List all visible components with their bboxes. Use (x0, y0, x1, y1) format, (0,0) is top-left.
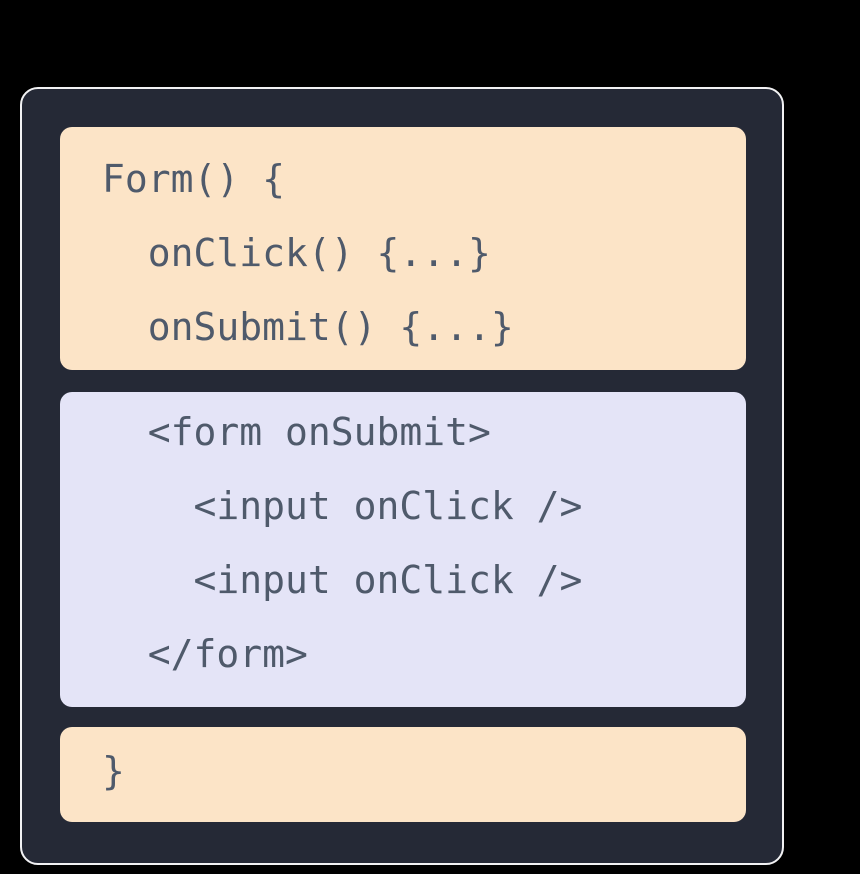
code-line: Form() { (60, 157, 746, 201)
code-line: <input onClick /> (60, 558, 746, 602)
code-line: <form onSubmit> (60, 410, 746, 454)
code-panel-component-head: Form() { onClick() {...} onSubmit() {...… (60, 127, 746, 370)
code-line: onClick() {...} (60, 231, 746, 275)
code-block-markup: <form onSubmit> <input onClick /> <input… (60, 392, 746, 707)
code-panel-markup: <form onSubmit> <input onClick /> <input… (60, 392, 746, 707)
code-block-component-tail: } (60, 727, 746, 822)
code-line: </form> (60, 632, 746, 676)
screenshot-stage: Form() { onClick() {...} onSubmit() {...… (0, 0, 860, 874)
code-line: } (60, 749, 746, 793)
code-line: <input onClick /> (60, 484, 746, 528)
code-block-component-head: Form() { onClick() {...} onSubmit() {...… (60, 127, 746, 370)
code-line: onSubmit() {...} (60, 305, 746, 349)
code-card: Form() { onClick() {...} onSubmit() {...… (20, 87, 784, 865)
code-panel-component-tail: } (60, 727, 746, 822)
